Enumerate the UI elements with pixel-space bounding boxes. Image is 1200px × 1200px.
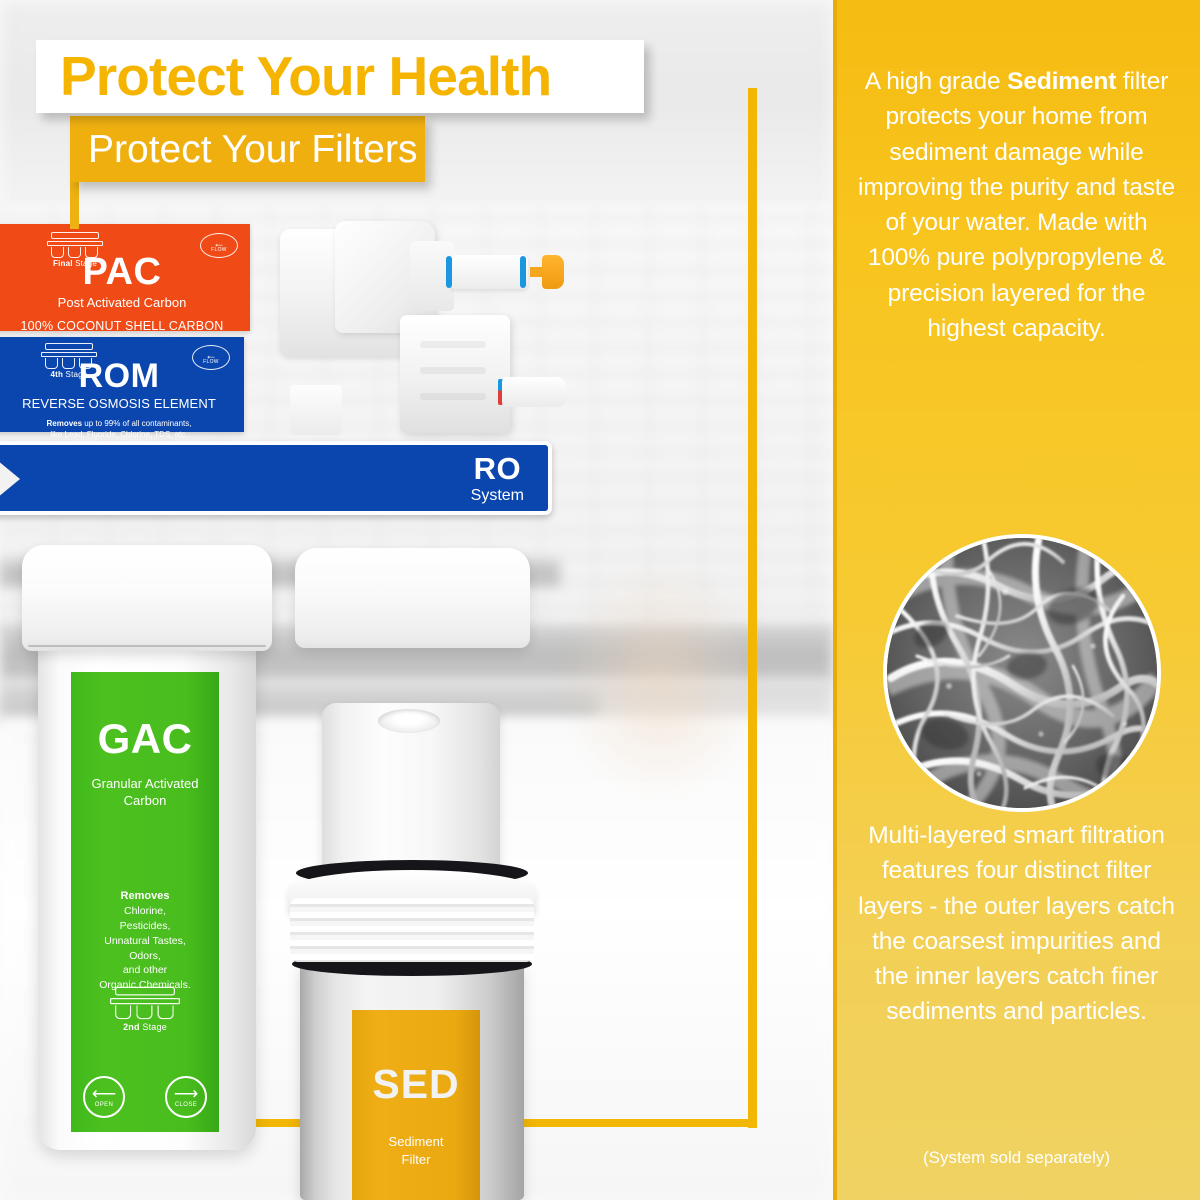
flow-arrow-icon: ← — [213, 239, 225, 247]
close-label: CLOSE — [175, 1102, 197, 1108]
orange-valve-handle — [530, 255, 564, 289]
bracket-vertical-line — [748, 88, 757, 1128]
open-label: OPEN — [95, 1102, 114, 1108]
sediment-cartridge — [322, 703, 500, 885]
manifold-bracket — [290, 385, 342, 435]
flow-arrow-icon: ← — [205, 351, 217, 359]
manifold-rib — [420, 341, 486, 348]
arrow-right-icon: ⟶ — [174, 1087, 198, 1101]
gac-removes-item: Unnatural Tastes, — [71, 934, 219, 949]
ro-banner-title: RO — [471, 453, 524, 484]
rom-removes-heading: Removes — [47, 419, 83, 428]
second-housing-cap — [295, 548, 530, 648]
membrane-icon — [41, 343, 97, 369]
ro-banner-subtitle: System — [471, 486, 524, 505]
sed-filter-label: SED Sediment Filter — [352, 1010, 480, 1200]
gac-name-line2: Carbon — [124, 793, 167, 808]
pac-stage-badge: Final Stage — [38, 232, 112, 268]
page-subtitle: Protect Your Filters — [70, 130, 417, 169]
sed-code: SED — [352, 1064, 480, 1105]
gac-removes-item: and other — [71, 963, 219, 978]
rom-stage-prefix: 4th — [51, 370, 64, 379]
background-warm-highlight — [560, 560, 760, 800]
gac-removes-item: Odors, — [71, 949, 219, 964]
gac-filter-label: GAC Granular Activated Carbon Removes Ch… — [71, 672, 219, 1132]
sediment-description-paragraph: A high grade Sediment filter protects yo… — [853, 64, 1180, 346]
gac-removes-item: Pesticides, — [71, 919, 219, 934]
gac-stage-caption: 2nd Stage — [71, 1022, 219, 1032]
pac-filter-label: Final Stage ← FLOW PAC Post Activated Ca… — [0, 224, 250, 331]
pac-flow-badge: ← FLOW — [200, 233, 238, 258]
ro-quick-connect-fitting — [450, 255, 528, 289]
paragraph1-emphasis: Sediment — [1007, 68, 1116, 95]
rom-stage-badge: 4th Stage — [32, 343, 106, 379]
rom-flow-caption: FLOW — [203, 359, 219, 365]
micrograph-image — [887, 538, 1157, 808]
ro-manifold-body — [400, 315, 510, 433]
paragraph1-lead: A high grade — [865, 68, 1007, 95]
rom-removes-line1: up to 99% of all contaminants, — [82, 419, 191, 428]
pac-stage-suffix: Stage — [73, 259, 97, 268]
paragraph1-body: filter protects your home from sediment … — [858, 68, 1175, 342]
gac-name-line1: Granular Activated — [92, 776, 199, 791]
gac-housing-cap — [22, 545, 272, 651]
housing-threads — [290, 898, 534, 962]
bracket-connector-stub — [70, 181, 79, 229]
cartridge-center-hole — [378, 709, 440, 733]
rom-removes-line2: like Lead, Fluoride, Chlorine, TDS, etc. — [50, 430, 187, 439]
ro-outlet-port — [502, 377, 566, 407]
gac-name: Granular Activated Carbon — [71, 776, 219, 810]
chevron-right-icon — [0, 451, 20, 507]
gac-stage-badge: 2nd Stage — [71, 990, 219, 1032]
rom-filter-label: 4th Stage ← FLOW ROM REVERSE OSMOSIS ELE… — [0, 337, 244, 432]
rom-stage-suffix: Stage — [63, 370, 87, 379]
valve-knob — [542, 255, 564, 289]
pac-stage-prefix: Final — [53, 259, 73, 268]
micrograph-circle — [883, 534, 1161, 812]
headline-banner: Protect Your Health — [36, 40, 644, 113]
gac-removes-list: Chlorine, Pesticides, Unnatural Tastes, … — [71, 904, 219, 993]
pac-stage-caption: Final Stage — [38, 259, 112, 268]
rom-name: REVERSE OSMOSIS ELEMENT — [0, 396, 244, 411]
polypropylene-fiber-micrograph — [883, 534, 1161, 812]
manifold-rib — [420, 393, 486, 400]
subheadline-banner: Protect Your Filters — [70, 116, 425, 182]
arrow-left-icon: ⟵ — [92, 1087, 116, 1101]
filter-housing-icon — [47, 232, 103, 258]
rom-stage-caption: 4th Stage — [32, 370, 106, 379]
manifold-rib — [420, 367, 486, 374]
pac-name: Post Activated Carbon — [0, 295, 250, 310]
gac-removes-heading: Removes — [71, 890, 219, 902]
open-direction-badge: ⟵ OPEN — [83, 1076, 125, 1118]
filter-housing-icon — [110, 987, 180, 1020]
gac-stage-suffix: Stage — [140, 1022, 167, 1032]
rom-removes: Removes up to 99% of all contaminants, l… — [0, 419, 244, 441]
panel-edge-stripe — [833, 0, 837, 1200]
page-title: Protect Your Health — [36, 49, 551, 104]
sed-name-line1: Sediment — [389, 1134, 444, 1149]
ro-manifold-assembly — [280, 215, 580, 455]
sed-name-line2: Filter — [402, 1152, 431, 1167]
gac-removes-item: Chlorine, — [71, 904, 219, 919]
multilayer-description-paragraph: Multi-layered smart filtration features … — [853, 818, 1180, 1030]
pac-material: 100% COCONUT SHELL CARBON — [0, 319, 250, 333]
gac-stage-prefix: 2nd — [123, 1022, 140, 1032]
ro-system-banner: RO System — [0, 441, 552, 515]
pac-flow-caption: FLOW — [211, 247, 227, 253]
blue-collet-left — [446, 256, 452, 288]
close-direction-badge: ⟶ CLOSE — [165, 1076, 207, 1118]
system-sold-separately-note: (System sold separately) — [853, 1148, 1180, 1168]
marketing-image: Final Stage ← FLOW PAC Post Activated Ca… — [0, 0, 1200, 1200]
rom-flow-badge: ← FLOW — [192, 345, 230, 370]
sed-name: Sediment Filter — [352, 1133, 480, 1168]
gac-code: GAC — [71, 718, 219, 760]
blue-collet-right — [520, 256, 526, 288]
